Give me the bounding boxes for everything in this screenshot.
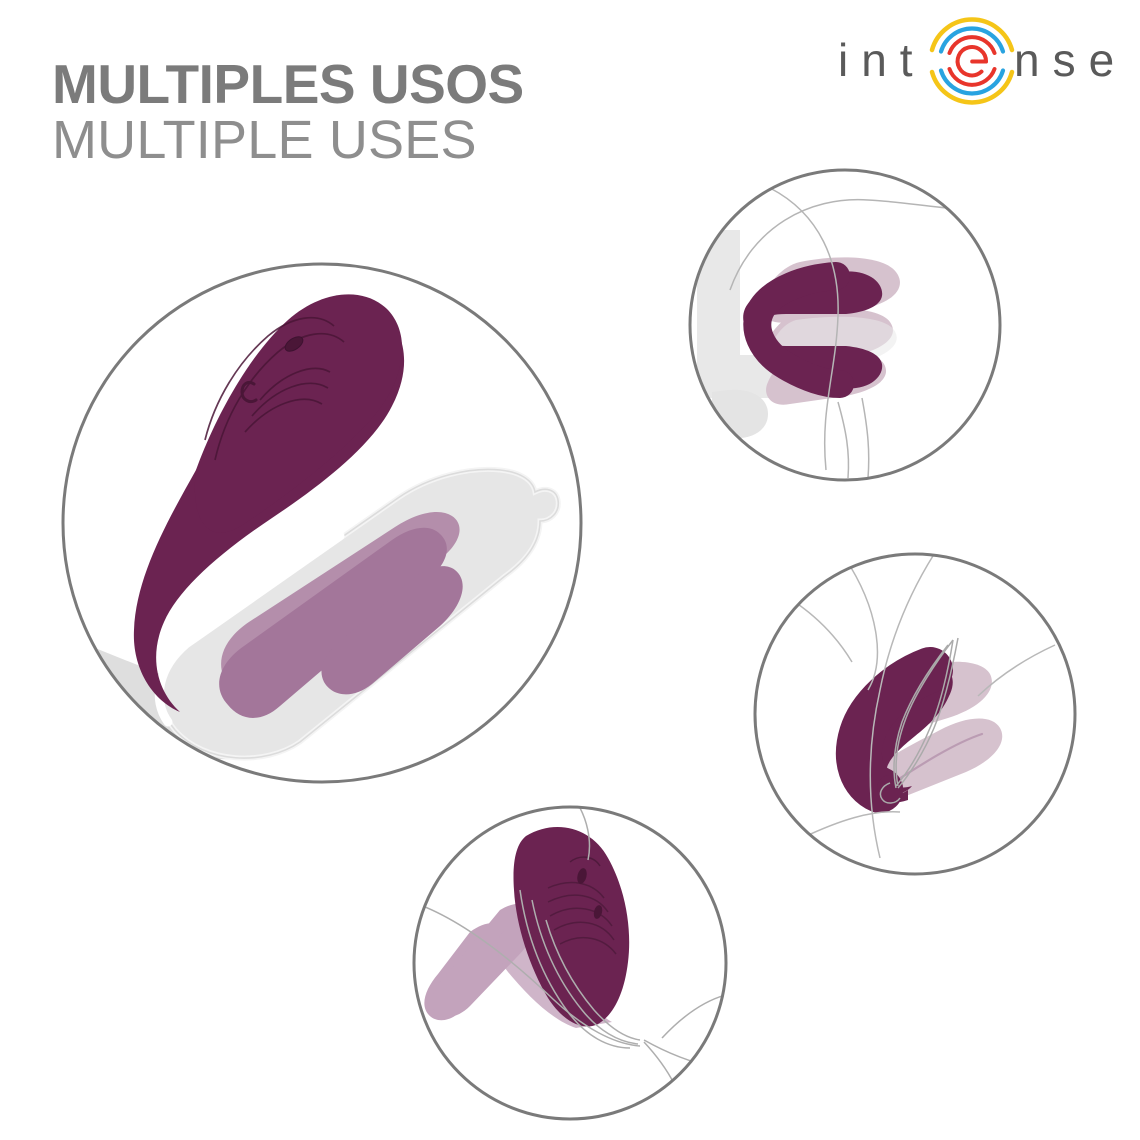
use-case-bottom-illustration [412, 798, 748, 1122]
use-case-main-contents [75, 294, 558, 760]
illustration-group [0, 0, 1140, 1140]
use-case-top-right-contents [697, 188, 1005, 478]
use-case-middle-right-contents [792, 545, 1055, 858]
use-case-middle-right-illustration [755, 545, 1075, 874]
use-case-top-right-illustration [690, 170, 1005, 480]
use-case-bottom-contents [412, 798, 748, 1122]
infographic-canvas: MULTIPLES USOS MULTIPLE USES int [0, 0, 1140, 1140]
use-case-main-illustration [63, 264, 581, 782]
